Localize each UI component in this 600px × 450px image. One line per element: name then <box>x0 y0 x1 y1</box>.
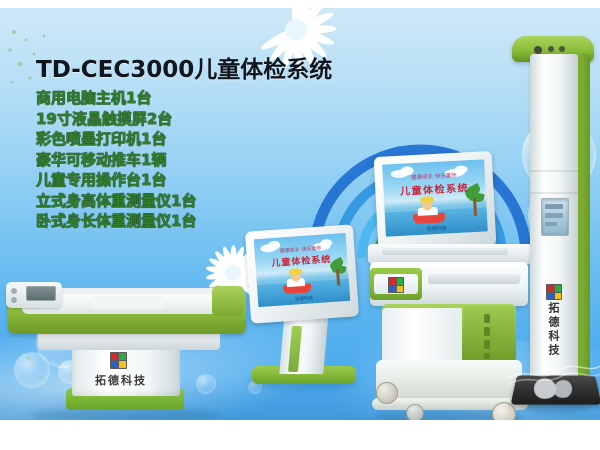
list-item: 商用电脑主机1台 <box>36 88 256 109</box>
scale-display <box>26 286 56 301</box>
ultrasonic-sensor <box>534 46 542 54</box>
caster-wheel <box>406 404 424 420</box>
kiosk-main-screen[interactable]: 儿童体检系统 健康成长 快乐童年 拓德科技 <box>382 159 488 236</box>
list-item: 卧式身长体重测量仪1台 <box>36 211 256 232</box>
ripple-decor <box>506 356 600 386</box>
scale-button[interactable] <box>11 297 17 303</box>
page-title: TD-CEC3000儿童体检系统 <box>36 50 332 84</box>
list-item: 立式身高体重测量仪1台 <box>36 191 256 212</box>
brand-logo-icon <box>110 352 127 369</box>
brand-logo-icon <box>388 277 404 293</box>
list-item: 19寸液晶触摸屏2台 <box>36 109 256 130</box>
caster-wheel <box>376 382 398 404</box>
brand-name-vertical: 拓德科技 <box>546 302 560 358</box>
ultrasonic-sensor <box>559 46 565 52</box>
device-infant-scale: 拓德科技 <box>0 280 250 420</box>
device-touch-kiosk: 儿童体检系统 健康成长 快乐童年 拓德科技 <box>236 226 366 406</box>
poster-canvas: TD-CEC3000儿童体检系统 商用电脑主机1台 19寸液晶触摸屏2台 彩色喷… <box>0 0 600 450</box>
list-item: 豪华可移动推车1辆 <box>36 150 256 171</box>
brand-name: 拓德科技 <box>95 372 147 388</box>
spec-list: 商用电脑主机1台 19寸液晶触摸屏2台 彩色喷墨打印机1台 豪华可移动推车1辆 … <box>36 88 256 232</box>
list-item: 儿童专用操作台1台 <box>36 170 256 191</box>
brand-logo-icon <box>546 284 562 300</box>
device-stadiometer: 拓德科技 <box>500 20 600 420</box>
kiosk-secondary-screen[interactable]: 儿童体检系统 健康成长 快乐童年 拓德科技 <box>254 233 351 307</box>
scale-button[interactable] <box>11 288 17 294</box>
list-item: 彩色喷墨打印机1台 <box>36 129 256 150</box>
sky-background: TD-CEC3000儿童体检系统 商用电脑主机1台 19寸液晶触摸屏2台 彩色喷… <box>0 8 600 420</box>
ultrasonic-sensor <box>548 46 554 52</box>
